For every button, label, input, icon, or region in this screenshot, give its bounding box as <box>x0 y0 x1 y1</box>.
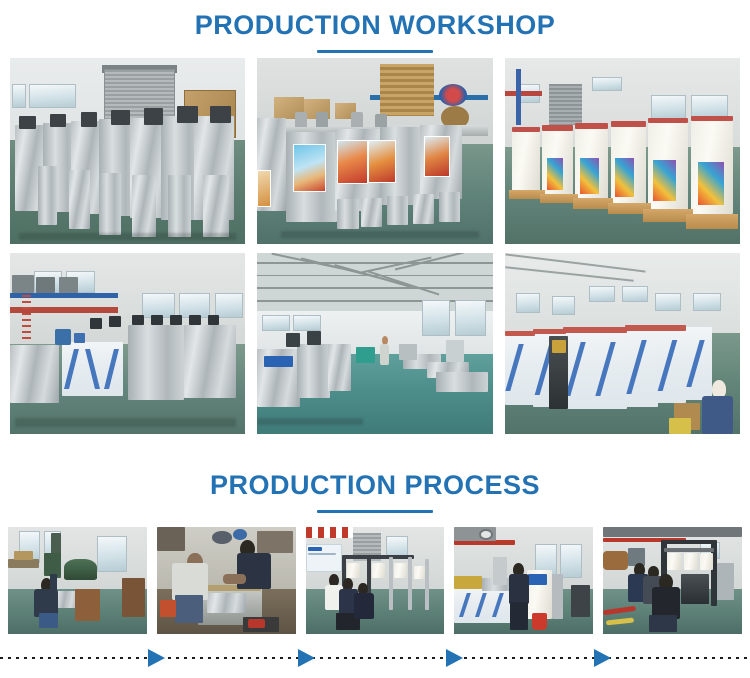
workshop-photo-row-1 <box>10 58 740 244</box>
workshop-heading-block: PRODUCTION WORKSHOP <box>0 10 750 53</box>
process-photo-2[interactable] <box>157 527 296 634</box>
process-heading-block: PRODUCTION PROCESS <box>0 470 750 513</box>
title-underline-process <box>317 510 433 513</box>
process-photo-3[interactable] <box>306 527 445 634</box>
workshop-photo-6[interactable] <box>505 253 740 434</box>
workshop-photo-3[interactable] <box>505 58 740 244</box>
workshop-photo-1-scene <box>10 58 245 244</box>
workshop-photo-2-scene <box>257 58 492 244</box>
workshop-photo-6-scene <box>505 253 740 434</box>
process-photo-1[interactable] <box>8 527 147 634</box>
process-photo-3-scene <box>306 527 445 634</box>
workshop-photo-3-scene <box>505 58 740 244</box>
process-photo-4[interactable] <box>454 527 593 634</box>
page-title-workshop: PRODUCTION WORKSHOP <box>0 10 750 41</box>
process-flow-strip <box>0 649 750 667</box>
flow-arrow-1 <box>148 649 165 667</box>
workshop-photo-1[interactable] <box>10 58 245 244</box>
title-underline-workshop <box>317 50 433 53</box>
process-photo-5-scene <box>603 527 742 634</box>
page-title-process: PRODUCTION PROCESS <box>0 470 750 501</box>
flow-arrow-3 <box>446 649 463 667</box>
production-page: PRODUCTION WORKSHOP <box>0 0 750 678</box>
workshop-photo-5[interactable] <box>257 253 492 434</box>
workshop-photo-4[interactable] <box>10 253 245 434</box>
workshop-photo-5-scene <box>257 253 492 434</box>
process-photo-1-scene <box>8 527 147 634</box>
process-flow-dotted-line <box>0 657 750 659</box>
flow-arrow-4 <box>594 649 611 667</box>
process-photo-2-scene <box>157 527 296 634</box>
process-photo-4-scene <box>454 527 593 634</box>
workshop-photo-4-scene <box>10 253 245 434</box>
process-photo-row <box>8 527 742 634</box>
workshop-photo-row-2 <box>10 253 740 434</box>
workshop-photo-2[interactable] <box>257 58 492 244</box>
process-photo-5[interactable] <box>603 527 742 634</box>
flow-arrow-2 <box>298 649 315 667</box>
